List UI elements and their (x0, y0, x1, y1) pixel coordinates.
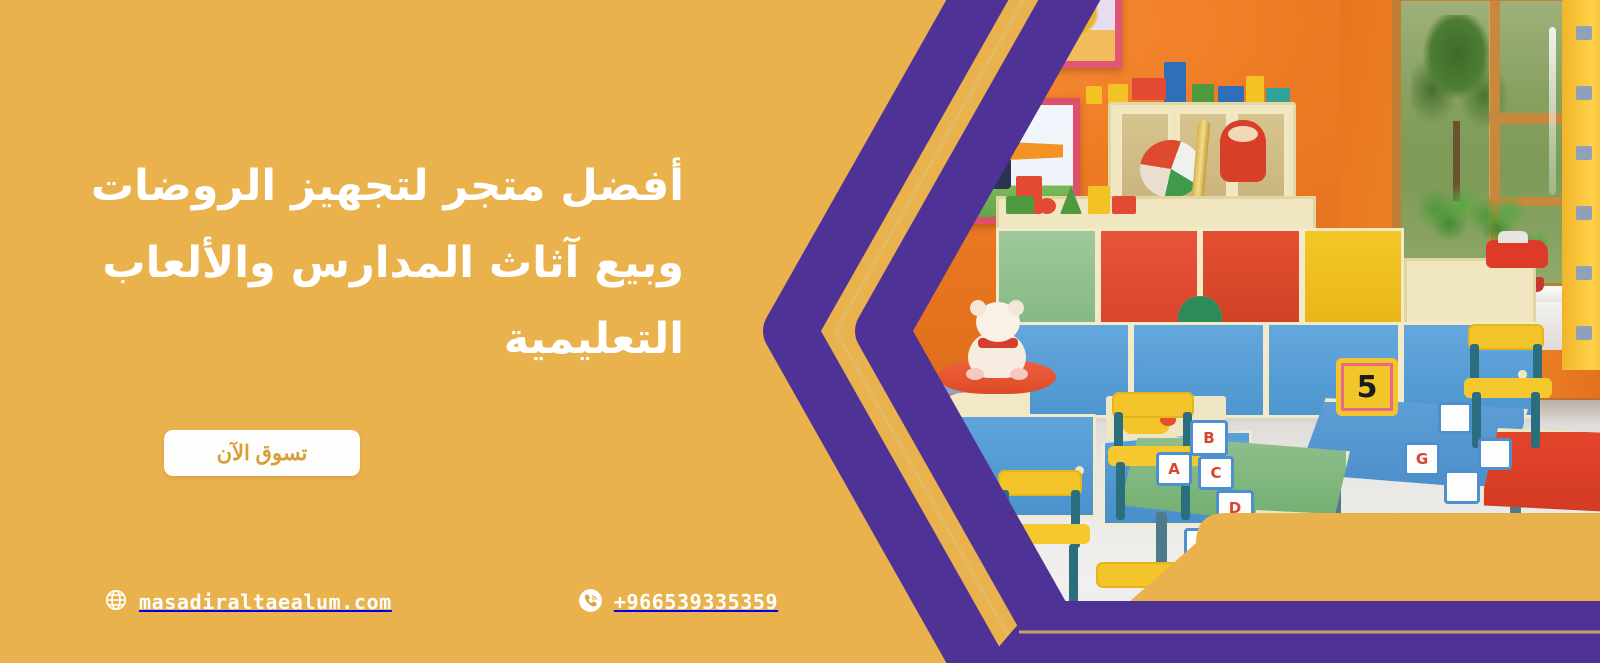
chair-leg (1069, 544, 1078, 608)
alphabet-cube: D (1216, 490, 1254, 526)
toy-block (1108, 84, 1128, 104)
teddy-ear (1008, 300, 1024, 316)
alphabet-cube: A (1156, 452, 1192, 486)
table-leg (1272, 592, 1283, 663)
alphabet-cube: G (1404, 442, 1440, 476)
framed-artwork (1016, 0, 1122, 68)
shop-now-button[interactable]: تسوق الآن (164, 430, 360, 476)
toy-block (1164, 62, 1186, 104)
cubby-door-yellow (1302, 228, 1404, 326)
toy-car-red (1486, 240, 1548, 268)
promo-banner: 5 A B C D E F G أفضل متجر لتجهيز الروض (0, 0, 1600, 663)
cubby-door-red (1200, 228, 1302, 326)
alphabet-cube: B (1190, 420, 1228, 456)
phone-link[interactable]: +966539335359 (578, 588, 778, 617)
teddy-paw (1010, 368, 1028, 380)
website-text: masadiraltaealum.com (139, 590, 392, 614)
toy-block (1246, 76, 1264, 104)
alphabet-cube (1438, 402, 1472, 434)
chair-leg (1002, 544, 1011, 608)
chair-leg (1531, 392, 1540, 448)
plush-toy-red (1220, 120, 1266, 182)
alphabet-cube (1478, 438, 1512, 470)
chair-seat (1092, 616, 1194, 636)
globe-icon (104, 588, 128, 616)
banner-content: أفضل متجر لتجهيز الروضات وبيع آثاث المدا… (0, 0, 760, 663)
chair-back (1112, 392, 1194, 418)
website-link[interactable]: masadiraltaealum.com (104, 588, 392, 616)
window-glare (1549, 27, 1556, 195)
chair-yellow (998, 470, 1082, 610)
alphabet-cube: E (1184, 528, 1220, 562)
chair-back (1096, 562, 1186, 588)
chair-seat (994, 524, 1090, 544)
toy-block (1088, 186, 1110, 214)
alphabet-cube: F (1228, 536, 1266, 572)
toy-block (1086, 86, 1102, 104)
teddy-bear (960, 302, 1034, 378)
chair-leg (1102, 634, 1111, 663)
chair-back (998, 470, 1082, 496)
phone-text: +966539335359 (614, 590, 778, 614)
chair-leg (1116, 462, 1125, 520)
toy-block (1038, 198, 1056, 214)
teddy-ear (970, 300, 986, 316)
alphabet-cube: C (1198, 456, 1234, 490)
chair-yellow (1096, 562, 1186, 662)
banner-footer: masadiraltaealum.com +966539335359 (0, 585, 830, 619)
page-title: أفضل متجر لتجهيز الروضات وبيع آثاث المدا… (68, 148, 684, 378)
framed-artwork (878, 0, 994, 72)
phone-circle-icon (578, 588, 603, 617)
cubby-door-row (996, 228, 1404, 326)
chair-yellow (1468, 324, 1544, 448)
wall-panel-right (1562, 0, 1600, 370)
toy-block (1132, 78, 1166, 100)
foam-number-block: 5 (1336, 358, 1398, 416)
toy-block (1006, 196, 1034, 214)
toy-block (1192, 84, 1214, 104)
teddy-paw (966, 368, 984, 380)
alphabet-cube (1444, 470, 1480, 504)
classroom-photo-scene: 5 A B C D E F G (820, 0, 1600, 663)
toy-block (1112, 196, 1136, 214)
